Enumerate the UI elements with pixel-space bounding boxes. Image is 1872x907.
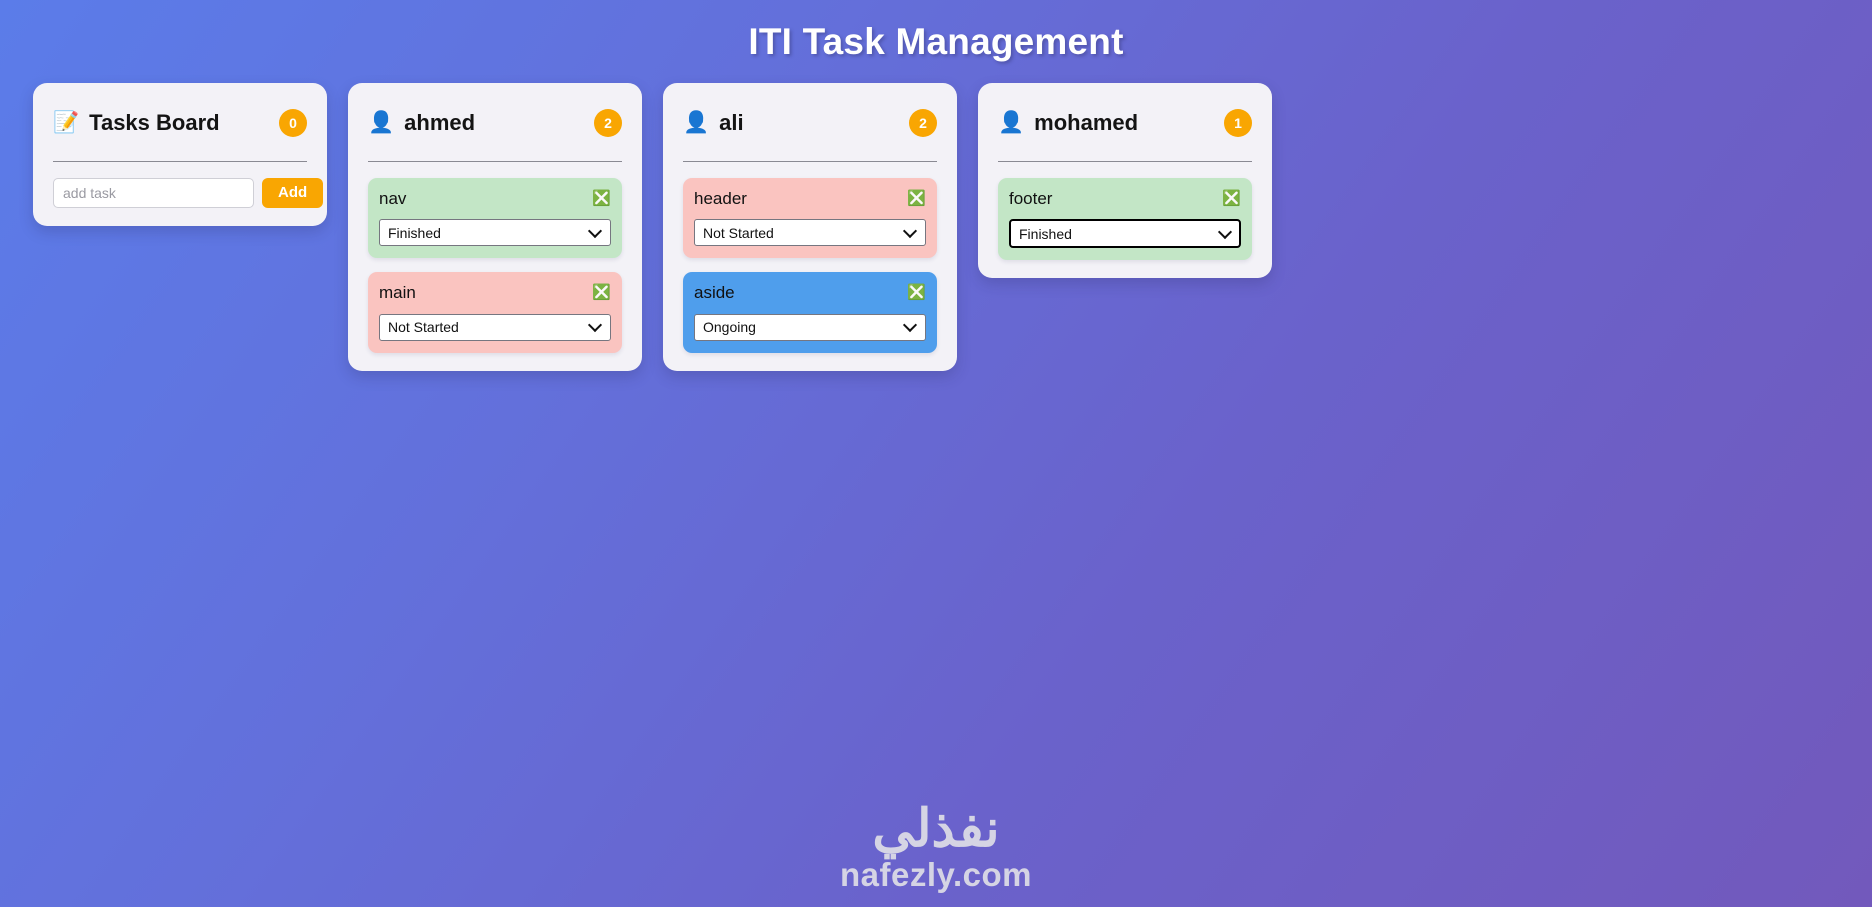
- task-name: main: [379, 282, 416, 303]
- task-name: footer: [1009, 188, 1052, 209]
- delete-task-icon[interactable]: ❎: [1222, 191, 1241, 206]
- task-status-wrap: Ongoing: [694, 314, 926, 341]
- task-list: header ❎ Not Started aside ❎ Ongoing: [683, 178, 937, 353]
- divider: [683, 161, 937, 162]
- watermark-latin: nafezly.com: [0, 857, 1872, 893]
- task-status-wrap: Not Started: [379, 314, 611, 341]
- divider: [368, 161, 622, 162]
- task-status-select[interactable]: Ongoing: [694, 314, 926, 341]
- user-icon: 👤: [683, 112, 709, 133]
- task-status-select[interactable]: Finished: [379, 219, 611, 246]
- tasks-board-label: Tasks Board: [89, 110, 219, 136]
- task-name: aside: [694, 282, 735, 303]
- user-card-mohamed: 👤 mohamed 1 footer ❎ Finished: [978, 83, 1272, 278]
- user-icon: 👤: [368, 112, 394, 133]
- task-card: footer ❎ Finished: [998, 178, 1252, 260]
- task-status-select[interactable]: Not Started: [694, 219, 926, 246]
- tasks-board-header: 📝 Tasks Board 0: [53, 103, 307, 141]
- divider: [998, 161, 1252, 162]
- memo-icon: 📝: [53, 112, 79, 133]
- user-card-header: 👤 ahmed 2: [368, 103, 622, 141]
- delete-task-icon[interactable]: ❎: [592, 285, 611, 300]
- task-header: footer ❎: [1009, 188, 1241, 209]
- user-name: ahmed: [404, 110, 475, 136]
- task-header: aside ❎: [694, 282, 926, 303]
- add-task-row: Add: [53, 178, 307, 208]
- watermark: نفذلي nafezly.com: [0, 803, 1872, 893]
- user-card-header: 👤 mohamed 1: [998, 103, 1252, 141]
- task-list: nav ❎ Finished main ❎ Not Started: [368, 178, 622, 353]
- task-name: header: [694, 188, 747, 209]
- tasks-board-title: 📝 Tasks Board: [53, 110, 220, 136]
- task-list: footer ❎ Finished: [998, 178, 1252, 260]
- add-task-input[interactable]: [53, 178, 254, 208]
- task-name: nav: [379, 188, 406, 209]
- task-status-wrap: Finished: [1009, 219, 1241, 248]
- delete-task-icon[interactable]: ❎: [592, 191, 611, 206]
- user-card-ahmed: 👤 ahmed 2 nav ❎ Finished main: [348, 83, 642, 371]
- task-status-select[interactable]: Finished: [1009, 219, 1241, 248]
- task-card: header ❎ Not Started: [683, 178, 937, 258]
- add-task-button[interactable]: Add: [262, 178, 323, 208]
- task-status-wrap: Not Started: [694, 219, 926, 246]
- user-title: 👤 ahmed: [368, 110, 475, 136]
- user-icon: 👤: [998, 112, 1024, 133]
- delete-task-icon[interactable]: ❎: [907, 285, 926, 300]
- tasks-board-card: 📝 Tasks Board 0 Add: [33, 83, 327, 226]
- user-name: ali: [719, 110, 743, 136]
- user-title: 👤 ali: [683, 110, 744, 136]
- task-card: aside ❎ Ongoing: [683, 272, 937, 352]
- divider: [53, 161, 307, 162]
- task-header: nav ❎: [379, 188, 611, 209]
- task-board: 📝 Tasks Board 0 Add 👤 ahmed 2 nav ❎: [0, 63, 1872, 371]
- user-title: 👤 mohamed: [998, 110, 1138, 136]
- user-task-count-badge: 2: [909, 109, 937, 137]
- user-card-header: 👤 ali 2: [683, 103, 937, 141]
- task-header: header ❎: [694, 188, 926, 209]
- task-status-wrap: Finished: [379, 219, 611, 246]
- task-card: nav ❎ Finished: [368, 178, 622, 258]
- user-card-ali: 👤 ali 2 header ❎ Not Started asid: [663, 83, 957, 371]
- user-task-count-badge: 2: [594, 109, 622, 137]
- user-name: mohamed: [1034, 110, 1138, 136]
- task-status-select[interactable]: Not Started: [379, 314, 611, 341]
- task-card: main ❎ Not Started: [368, 272, 622, 352]
- page-title: ITI Task Management: [0, 0, 1872, 63]
- user-task-count-badge: 1: [1224, 109, 1252, 137]
- task-header: main ❎: [379, 282, 611, 303]
- watermark-arabic: نفذلي: [0, 803, 1872, 855]
- tasks-board-count-badge: 0: [279, 109, 307, 137]
- delete-task-icon[interactable]: ❎: [907, 191, 926, 206]
